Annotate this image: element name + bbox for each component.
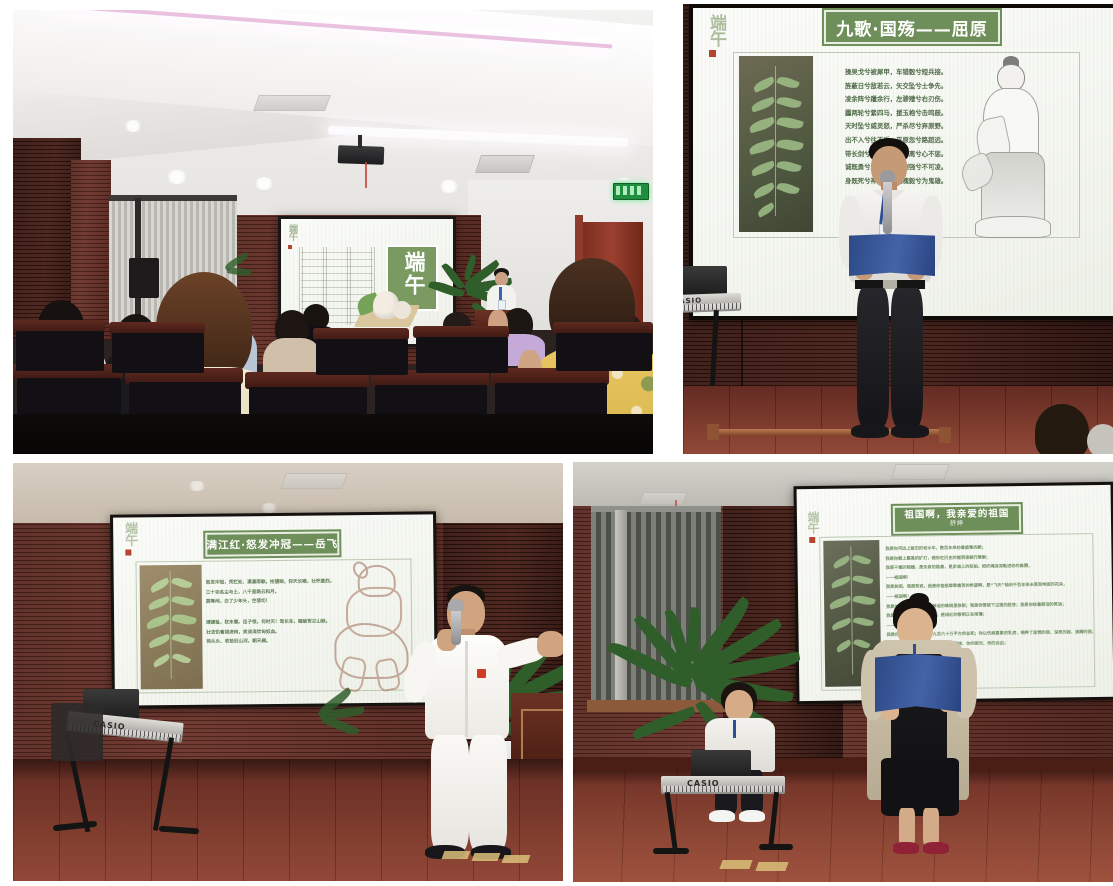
floor-marker-2 [755,862,788,871]
slide-title-bottom-right: 祖国啊，我亲爱的祖国 舒婷 [893,504,1021,534]
ceiling-vent-1 [475,155,535,173]
slide-subtitle-text: 舒婷 [950,521,964,528]
slide-title-text: 满江红·怒发冲冠——岳飞 [206,536,338,552]
slide-badge-dot [125,549,131,555]
wall-baseboard [573,758,1113,770]
shoe-left [851,424,889,438]
photo-panel-top-right[interactable]: 端午 九歌·国殇——屈原 [683,4,1113,454]
leg-right [469,735,507,851]
photo-panel-bottom-left[interactable]: 端午 满江红·怒发冲冠——岳飞 [13,463,563,881]
hand-right-open [537,631,563,657]
photo-panel-top-left[interactable]: 端午 端午 [13,10,653,454]
leg-right [891,288,923,426]
lanyard [733,720,736,738]
slide-badge-dot [288,245,292,249]
downlight-3 [438,180,460,193]
floor-marker-1 [719,860,752,869]
keyboard-brand-label: CASIO [683,296,702,305]
downlight-1 [187,481,207,491]
blue-folder [849,234,935,276]
photo-collage: 端午 端午 [0,0,1113,886]
keyboard-keys [663,786,783,792]
projector-cable [365,162,367,188]
ceiling-vent-2 [253,95,331,111]
hair-bun [909,593,929,607]
handheld-microphone [883,176,892,234]
floor-marker-2 [472,853,501,861]
sneaker-right [739,810,765,822]
sneaker-left [709,810,735,822]
downlight-6 [123,120,143,132]
foreground-audience-head-2 [1087,424,1113,454]
downlight-2 [253,177,275,190]
blue-folder [875,654,961,712]
leaf-photo [140,565,203,690]
chair-row-second [13,310,653,370]
slide-badge-duanwu: 端午 [807,511,819,533]
stage-plant-small [291,677,361,747]
ceiling-projector [338,145,385,165]
quyuan-illustration [961,56,1061,236]
handheld-microphone [451,605,461,645]
shirt-placket [465,641,468,737]
male-reciter [833,138,957,448]
male-singer-figure [389,583,563,873]
chest-badge [477,669,486,678]
microphone-head [880,170,895,182]
shoe-right [891,424,929,438]
leg-left [857,288,889,426]
ceiling-vent-2 [639,492,687,505]
floor-marker-1 [442,851,471,859]
window-frame [109,195,237,201]
keyboard-stand-foot-2 [759,844,793,850]
leaf-photo [739,56,813,232]
slide-badge-duanwu: 端午 [707,14,724,46]
slide-title-text: 九歌·国殇——屈原 [836,15,987,40]
keyboard-stand-foot [653,848,689,854]
slide-title-bottom-left: 满江红·怒发冲冠——岳飞 [205,531,339,556]
downlight-2 [259,503,279,513]
slide-badge-dot [809,537,815,543]
foreground-audience-head-1 [1035,404,1089,454]
dress-skirt-flare [881,758,959,816]
slide-bottom-left: 端午 满江红·怒发冲冠——岳飞 [113,514,435,705]
projector-mount [358,135,362,148]
photo-panel-bottom-right[interactable]: 端午 祖国啊，我亲爱的祖国 舒婷 [573,462,1113,882]
leg-left [899,808,915,846]
keyboard-music-rest [683,266,727,296]
female-reciter [851,598,991,870]
red-heel-left [893,842,919,854]
slide-title-top-right: 九歌·国殇——屈原 [824,10,1000,44]
slide-badge-dot [709,50,716,57]
keyboard-music-rest [691,750,751,778]
chair-behind-keyboard [51,703,103,761]
floor-marker-3 [502,855,531,863]
leg-right [923,808,939,846]
exit-sign-label [616,186,644,195]
curtain-rail [591,506,721,512]
leg-left [431,735,469,851]
slide-badge-duanwu: 端午 [123,521,136,545]
slide-badge-duanwu: 端午 [287,224,296,240]
ceiling-vent [890,464,949,480]
keyboard-brand-label: CASIO [687,779,720,788]
red-heel-right [923,842,949,854]
aisle-floor [13,414,653,454]
downlight-1 [165,170,189,184]
floor-threshold-block-left [707,424,719,440]
ceiling-vent [280,473,348,489]
microphone-head [448,599,464,611]
